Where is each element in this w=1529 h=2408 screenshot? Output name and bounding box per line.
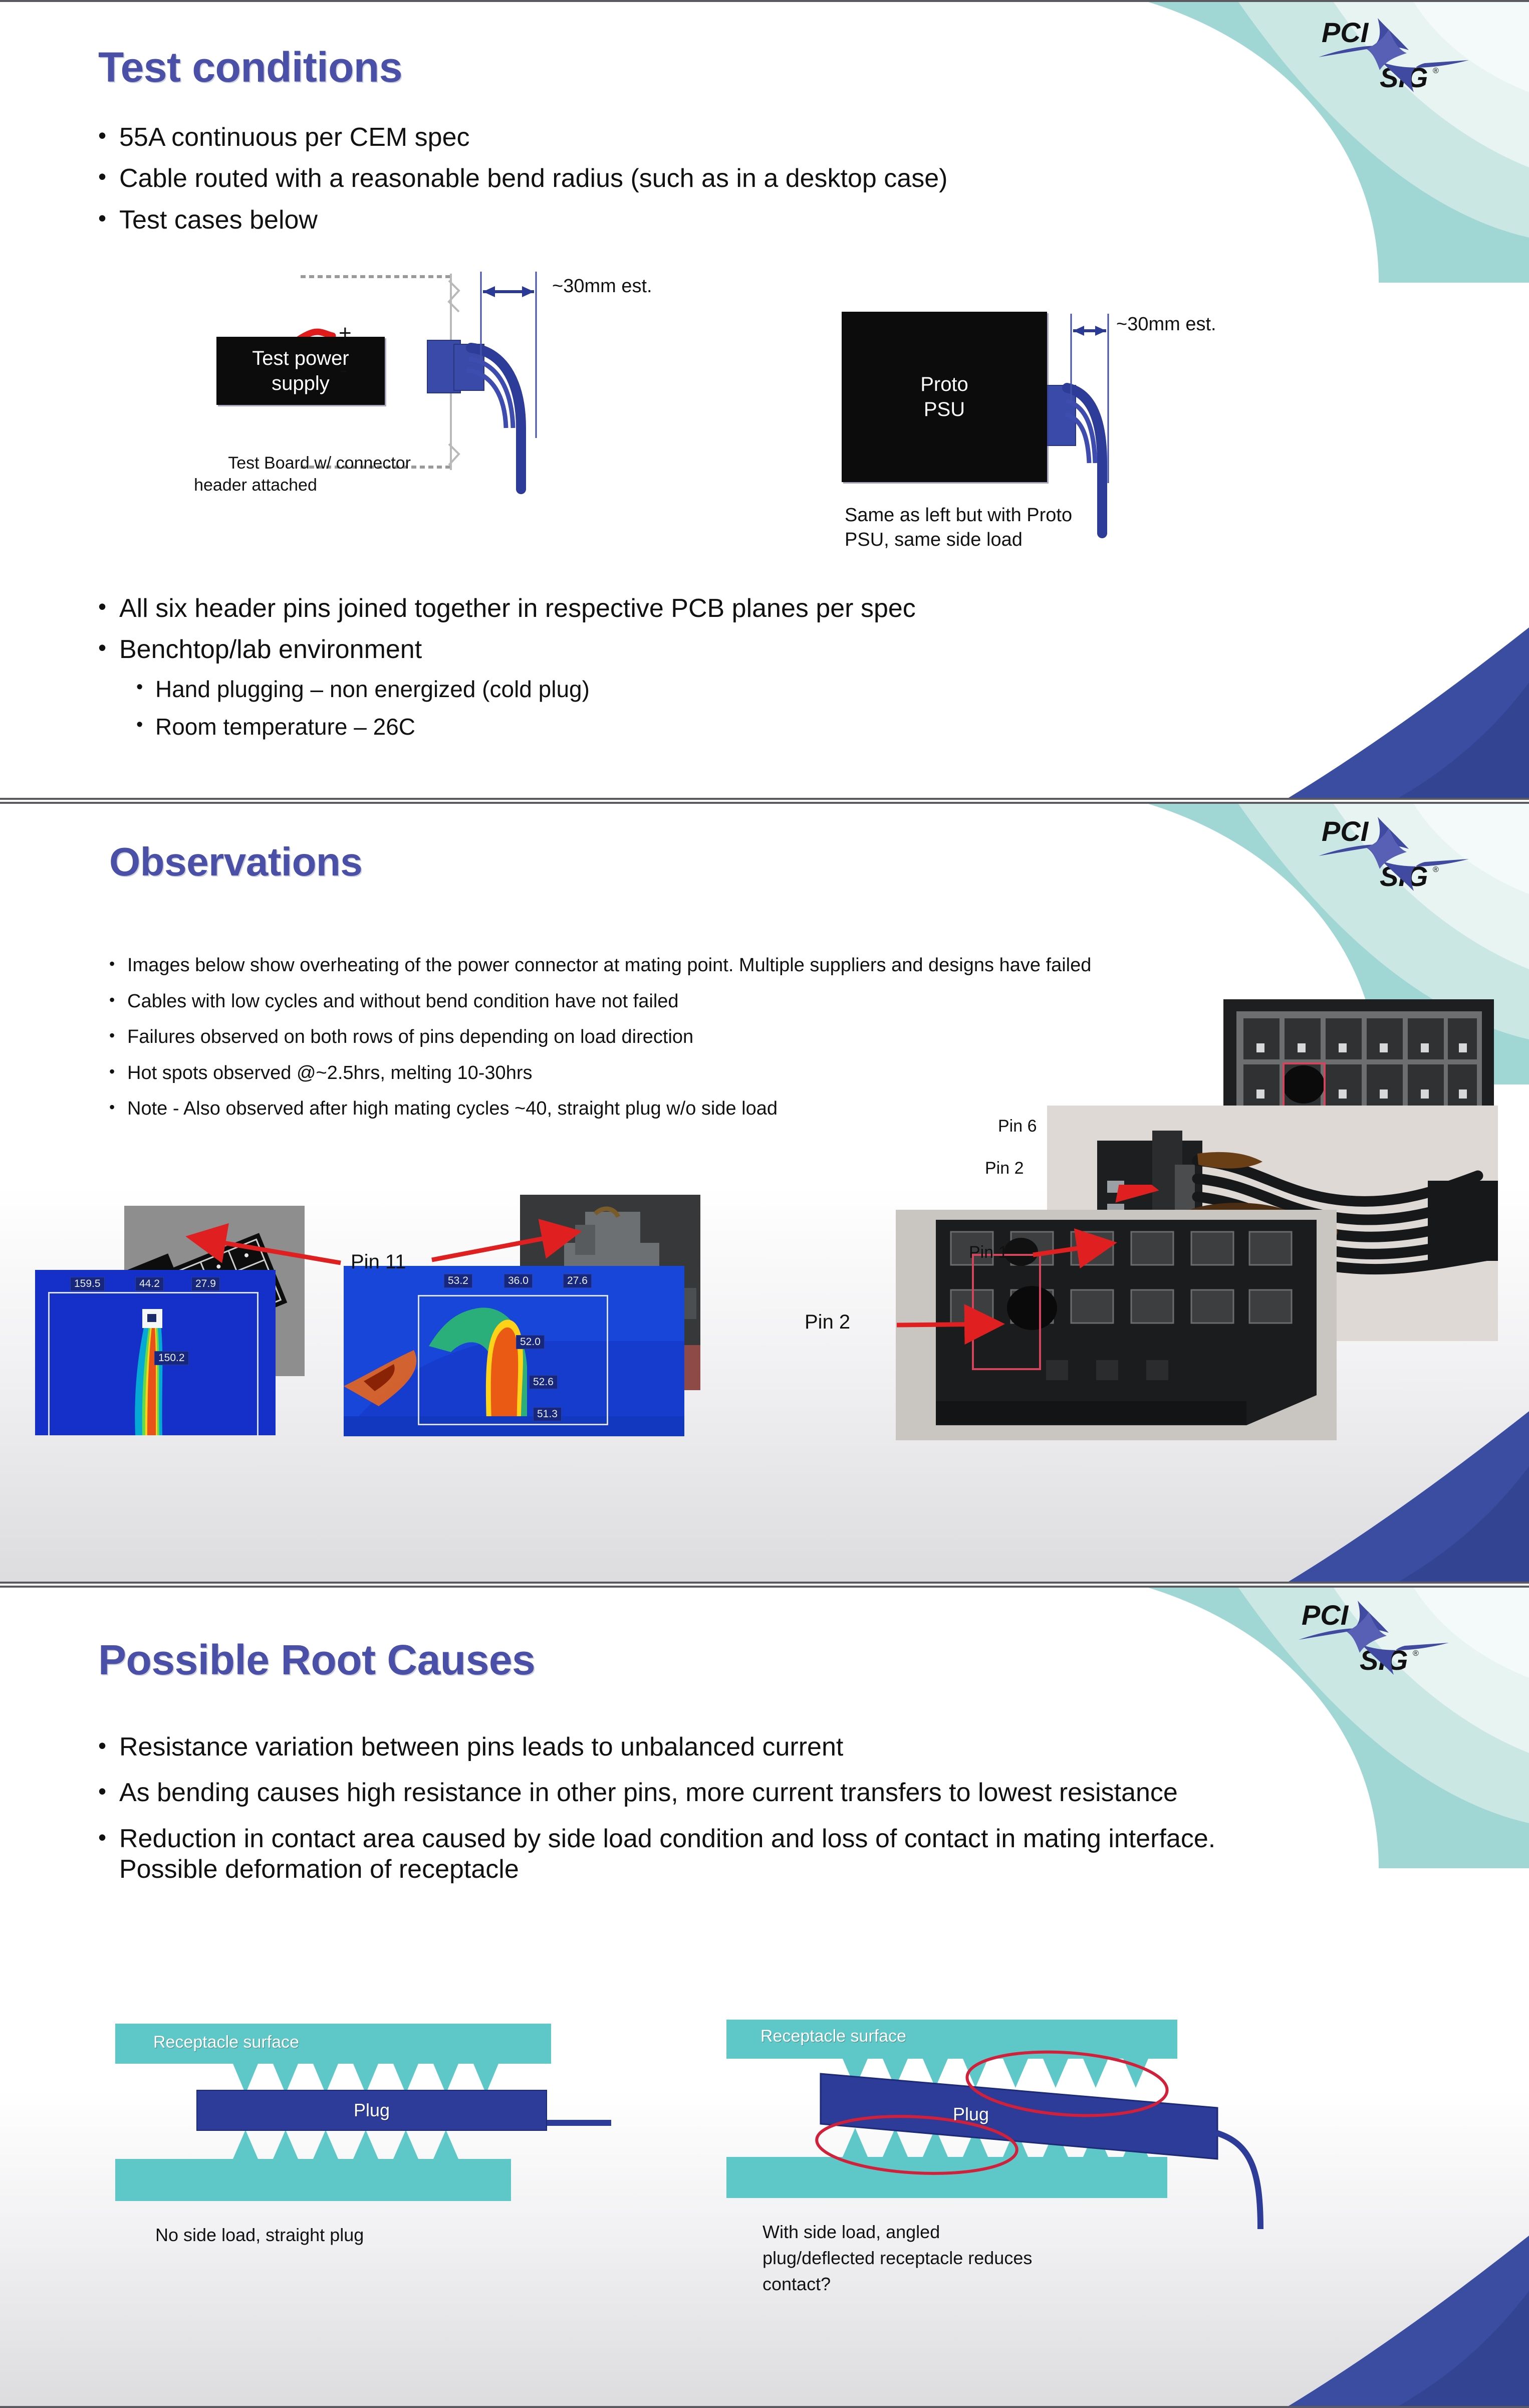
bullet-text: Cables with low cycles and without bend … xyxy=(127,990,1327,1013)
thermal-spot-reading: 52.6 xyxy=(529,1375,558,1389)
plug-receptacle-diagram-straight: Receptacle surface Plug No side load, st… xyxy=(105,2019,666,2229)
polarity-plus-label: + xyxy=(339,321,352,346)
thermal-roi-frame xyxy=(48,1292,259,1435)
proto-psu-label-line2: PSU xyxy=(920,397,968,422)
bullet-dot-icon: • xyxy=(109,1026,127,1045)
bullet-dot-icon: • xyxy=(98,593,119,620)
thermal-scale-value: 27.6 xyxy=(563,1274,592,1288)
bullet-text: 55A continuous per CEM spec xyxy=(119,122,1391,152)
annotation-label-pin-2-upper: Pin 2 xyxy=(985,1159,1024,1178)
proto-psu-label-line1: Proto xyxy=(920,372,968,397)
test-power-supply-box: Test power supply xyxy=(216,337,385,405)
test-setup-diagram-left: Test power supply + - ~30mm est. Test Bo… xyxy=(170,263,701,543)
thermal-roi-frame xyxy=(418,1295,608,1425)
bullet-text: Images below show overheating of the pow… xyxy=(127,954,1327,977)
thermal-scale-value: 36.0 xyxy=(504,1274,533,1288)
thermal-image-right: 53.2 36.0 27.6 52.0 52.6 51.3 xyxy=(344,1266,684,1436)
bullet-dot-icon: • xyxy=(98,634,119,661)
slide-possible-root-causes: PCI SIG ® Possible Root Causes • Resista… xyxy=(0,1586,1529,2408)
bullet-dot-icon: • xyxy=(98,163,119,190)
list-item: • 55A continuous per CEM spec xyxy=(98,122,1391,152)
annotation-label-pin-2-lower: Pin 2 xyxy=(805,1311,850,1334)
list-item-sub: • Room temperature – 26C xyxy=(136,714,1401,740)
slide-3-body: Possible Root Causes • Resistance variat… xyxy=(0,1588,1529,2406)
slide-1-body: Test conditions • 55A continuous per CEM… xyxy=(0,2,1529,798)
thermal-spot-reading: 150.2 xyxy=(154,1351,189,1365)
failure-highlight-box xyxy=(972,1254,1041,1370)
bullet-text: As bending causes high resistance in oth… xyxy=(119,1778,1381,1808)
plug-box: Plug xyxy=(196,2090,547,2131)
bullet-dot-icon: • xyxy=(109,1062,127,1081)
receptacle-surface-label: Receptacle surface xyxy=(153,2033,299,2052)
test-board-caption-line2: header attached xyxy=(100,474,411,496)
plug-receptacle-diagram-angled: Receptacle surface Plug With side load, … xyxy=(716,2009,1308,2229)
psu-label-line1: Test power xyxy=(252,346,349,371)
angled-plug-caption-line3: contact? xyxy=(762,2271,1213,2297)
thermal-scale-value: 44.2 xyxy=(135,1277,164,1291)
list-item: • Failures observed on both rows of pins… xyxy=(109,1026,1327,1049)
bullet-text: Hot spots observed @~2.5hrs, melting 10-… xyxy=(127,1062,1327,1085)
receptacle-surface-label: Receptacle surface xyxy=(760,2027,906,2046)
test-board-caption: Test Board w/ connector header attached xyxy=(100,452,411,496)
failure-highlight-box xyxy=(1283,1062,1326,1109)
bullet-dot-icon: • xyxy=(136,676,155,698)
list-item: • Reduction in contact area caused by si… xyxy=(98,1824,1311,1885)
bullet-dot-icon: • xyxy=(98,205,119,232)
bullet-text: Hand plugging – non energized (cold plug… xyxy=(155,676,1401,703)
polarity-minus-label: - xyxy=(340,358,347,383)
list-item: • As bending causes high resistance in o… xyxy=(98,1778,1381,1808)
slide-3-bullet-list: • Resistance variation between pins lead… xyxy=(98,1732,1401,1900)
slide-observations: PCI SIG ® Observations • Images below sh… xyxy=(0,802,1529,1584)
thermal-scale-value: 27.9 xyxy=(191,1277,220,1291)
thermal-image-left: 159.5 44.2 27.9 150.2 xyxy=(35,1270,276,1435)
bullet-text: All six header pins joined together in r… xyxy=(119,593,1401,623)
slide-2-body: Observations • Images below show overhea… xyxy=(0,804,1529,1582)
proto-psu-caption-line1: Same as left but with Proto xyxy=(845,503,1205,528)
page-title: Possible Root Causes xyxy=(98,1636,535,1684)
bullet-text: Benchtop/lab environment xyxy=(119,634,1401,665)
dimension-label-right: ~30mm est. xyxy=(1116,314,1216,335)
annotation-label-pin-1: Pin 1 xyxy=(969,1243,1008,1262)
test-board-caption-line1: Test Board w/ connector xyxy=(100,452,411,474)
list-item: • Test cases below xyxy=(98,205,1391,235)
thermal-spot-reading: 52.0 xyxy=(516,1335,545,1349)
list-item: • Benchtop/lab environment xyxy=(98,634,1401,665)
bullet-text: Test cases below xyxy=(119,205,1391,235)
bullet-dot-icon: • xyxy=(109,1098,127,1117)
thermal-scale-value: 53.2 xyxy=(444,1274,472,1288)
page-title: Test conditions xyxy=(98,43,402,92)
straight-plug-caption: No side load, straight plug xyxy=(155,2222,606,2248)
bullet-dot-icon: • xyxy=(109,990,127,1009)
slide-test-conditions: PCI SIG ® Test conditions • 55A continuo… xyxy=(0,0,1529,800)
list-item: • All six header pins joined together in… xyxy=(98,593,1401,623)
thermal-scale-value: 159.5 xyxy=(70,1277,105,1291)
proto-psu-caption-line2: PSU, same side load xyxy=(845,528,1205,552)
bullet-text: Room temperature – 26C xyxy=(155,714,1401,740)
list-item: • Cable routed with a reasonable bend ra… xyxy=(98,163,1391,193)
proto-psu-box: Proto PSU xyxy=(842,312,1047,482)
slide-1-bullet-list-bottom: • All six header pins joined together in… xyxy=(98,593,1401,751)
annotation-label-pin-6: Pin 6 xyxy=(998,1117,1037,1136)
test-setup-diagram-right: Proto PSU ~30mm est. Same as left but wi… xyxy=(802,283,1303,593)
angled-plug-caption: With side load, angled plug/deflected re… xyxy=(762,2219,1213,2298)
bullet-dot-icon: • xyxy=(98,1732,119,1759)
list-item: • Hot spots observed @~2.5hrs, melting 1… xyxy=(109,1062,1327,1085)
bullet-dot-icon: • xyxy=(98,1824,119,1851)
bullet-dot-icon: • xyxy=(136,714,155,736)
slides-page: PCI SIG ® Test conditions • 55A continuo… xyxy=(0,0,1529,2408)
list-item: • Resistance variation between pins lead… xyxy=(98,1732,1401,1763)
angled-plug-caption-line2: plug/deflected receptacle reduces xyxy=(762,2245,1213,2271)
thermal-spot-reading: 51.3 xyxy=(533,1407,562,1421)
plug-label: Plug xyxy=(953,2104,989,2125)
bullet-dot-icon: • xyxy=(98,1778,119,1805)
page-title: Observations xyxy=(109,839,362,885)
dimension-label-left: ~30mm est. xyxy=(552,276,652,297)
bullet-text: Cable routed with a reasonable bend radi… xyxy=(119,163,1391,193)
receptacle-front-art xyxy=(896,1210,1337,1440)
psu-label-line2: supply xyxy=(252,371,349,396)
bullet-dot-icon: • xyxy=(109,954,127,973)
list-item: • Images below show overheating of the p… xyxy=(109,954,1327,977)
angled-plug-caption-line1: With side load, angled xyxy=(762,2219,1213,2245)
proto-psu-caption: Same as left but with Proto PSU, same si… xyxy=(845,503,1205,553)
bullet-text: Resistance variation between pins leads … xyxy=(119,1732,1401,1763)
list-item-sub: • Hand plugging – non energized (cold pl… xyxy=(136,676,1401,703)
list-item: • Cables with low cycles and without ben… xyxy=(109,990,1327,1013)
annotation-label-pin-11: Pin 11 xyxy=(351,1251,406,1273)
receptacle-front-photo xyxy=(896,1210,1337,1440)
bullet-dot-icon: • xyxy=(98,122,119,149)
slide-1-bullet-list-top: • 55A continuous per CEM spec • Cable ro… xyxy=(98,122,1391,246)
bullet-text: Failures observed on both rows of pins d… xyxy=(127,1026,1327,1049)
bullet-text: Reduction in contact area caused by side… xyxy=(119,1824,1311,1885)
observation-photo-cluster: 159.5 44.2 27.9 150.2 xyxy=(0,1185,1529,1465)
